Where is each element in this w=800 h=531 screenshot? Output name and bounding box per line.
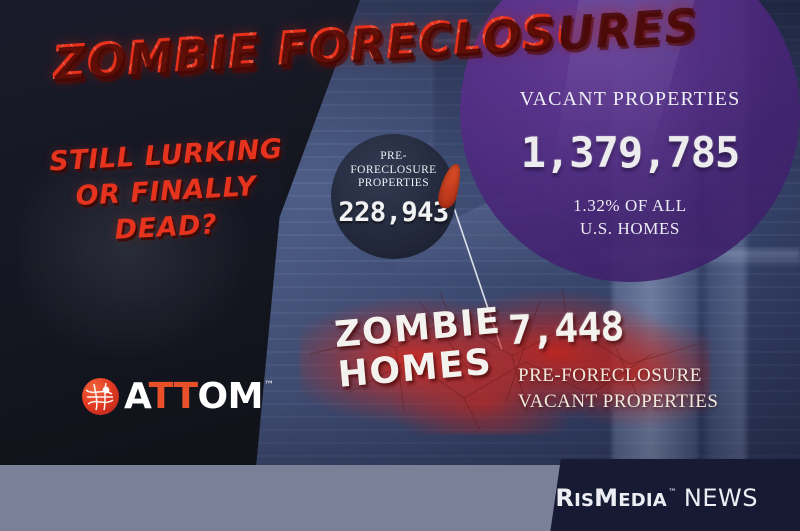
footer-bar: RISMEDIA ™ NEWS: [0, 465, 800, 531]
pre-foreclosure-label: PRE- FORECLOSURE PROPERTIES: [331, 150, 456, 191]
rismedia-letter-m: M: [594, 484, 618, 512]
vacant-properties-title: VACANT PROPERTIES: [470, 88, 790, 111]
rismedia-letters-edia: EDIA: [618, 490, 667, 511]
zombie-homes-caption-line-2: VACANT PROPERTIES: [518, 389, 798, 415]
pre-foreclosure-label-line-2: FORECLOSURE: [331, 164, 456, 178]
rismedia-news-label: NEWS: [684, 484, 758, 512]
zombie-homes-caption-line-1: PRE-FORECLOSURE: [518, 363, 798, 389]
attom-logo[interactable]: ATTOM ™: [82, 378, 274, 415]
pre-foreclosure-label-line-1: PRE-: [331, 150, 456, 164]
zombie-homes-caption: PRE-FORECLOSURE VACANT PROPERTIES: [518, 363, 798, 415]
subtitle-block: STILL LURKING OR FINALLY DEAD?: [36, 138, 296, 246]
attom-letters-tt: TT: [149, 376, 198, 417]
zombie-homes-value: 7,448: [507, 304, 624, 354]
attom-letters-om: OM: [198, 376, 263, 417]
rismedia-news-logo[interactable]: RISMEDIA ™ NEWS: [555, 484, 758, 512]
rismedia-letters-is: IS: [574, 490, 594, 511]
attom-letter-a: A: [124, 376, 149, 417]
rismedia-letter-r: R: [555, 484, 574, 512]
attom-trademark: ™: [264, 380, 274, 391]
vacant-properties-value: 1,379,785: [462, 128, 798, 177]
attom-mark-icon: [82, 378, 119, 415]
rismedia-trademark: ™: [668, 488, 677, 498]
rismedia-wordmark: RISMEDIA: [555, 484, 667, 512]
pre-foreclosure-label-line-3: PROPERTIES: [331, 177, 456, 191]
attom-wordmark: ATTOM: [124, 379, 263, 415]
infographic-canvas: ZOMBIE FORECLOSURES STILL LURKING OR FIN…: [0, 0, 800, 531]
